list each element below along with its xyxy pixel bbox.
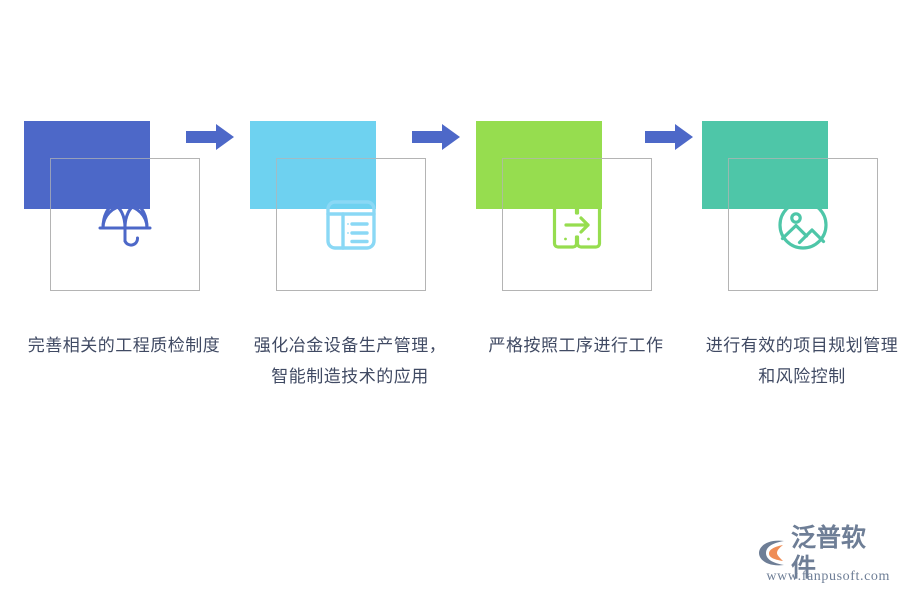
- step-4-caption: 进行有效的项目规划管理和风险控制: [702, 330, 900, 392]
- logo-url-text: www.fanpusoft.com: [758, 569, 890, 585]
- logo-lockup: 泛普软件: [758, 536, 890, 570]
- process-step-4: [702, 121, 882, 441]
- process-step-1: [24, 121, 204, 441]
- device-transfer-icon: [502, 158, 652, 291]
- step-1-caption: 完善相关的工程质检制度: [24, 330, 224, 361]
- process-step-2: [250, 121, 430, 441]
- step-3-caption: 严格按照工序进行工作: [476, 330, 676, 361]
- arrow-right-icon: [412, 124, 460, 150]
- fanpu-swoosh-logo-icon: [758, 538, 790, 568]
- arrow-right-icon: [645, 124, 693, 150]
- arrow-right-icon: [186, 124, 234, 150]
- process-diagram-canvas: 完善相关的工程质检制度 强化冶金设备生产管理，智能制造技术的应用 严格按照工序进…: [0, 0, 900, 600]
- image-photo-icon: [728, 158, 878, 291]
- watermark-logo: 泛普软件 www.fanpusoft.com: [758, 536, 890, 588]
- step-2-caption: 强化冶金设备生产管理，智能制造技术的应用: [250, 330, 450, 392]
- process-step-3: [476, 121, 656, 441]
- article-list-icon: [276, 158, 426, 291]
- umbrella-icon: [50, 158, 200, 291]
